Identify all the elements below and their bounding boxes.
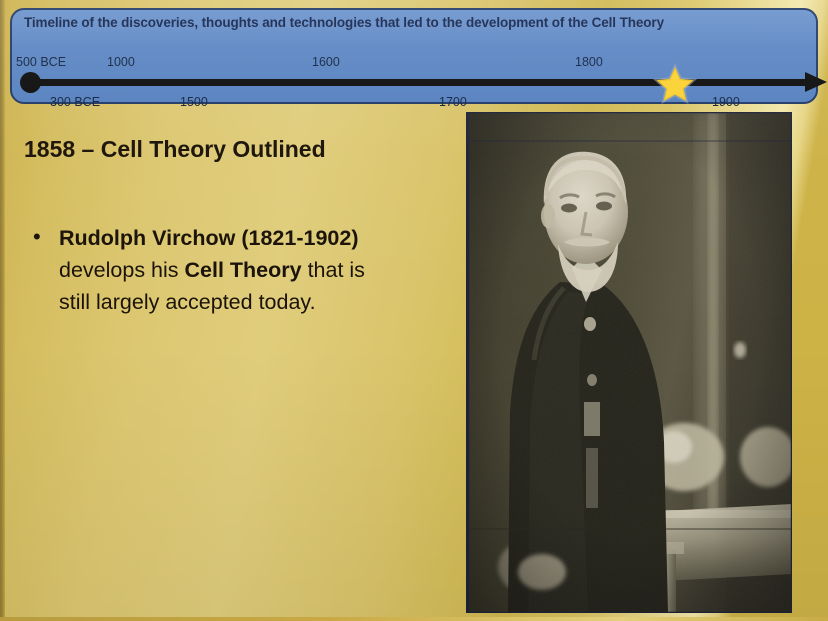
slide-bottom-edge	[0, 617, 828, 621]
timeline-tick-1700: 1700	[439, 95, 467, 109]
rudolph-virchow-portrait	[466, 112, 792, 613]
timeline-tick-300bce: 300 BCE	[50, 95, 100, 109]
star-icon	[653, 62, 697, 104]
bullet-marker: •	[33, 222, 59, 252]
bullet-text-name: Rudolph Virchow (1821-1902)	[59, 226, 359, 250]
bullet-text-mid: develops his	[59, 258, 185, 282]
timeline-tick-1600: 1600	[312, 55, 340, 69]
slide-canvas: Timeline of the discoveries, thoughts an…	[0, 0, 828, 621]
timeline-tick-1800: 1800	[575, 55, 603, 69]
timeline-tick-500bce: 500 BCE	[16, 55, 66, 69]
bullet-text: Rudolph Virchow (1821-1902) develops his…	[59, 222, 369, 318]
list-item: • Rudolph Virchow (1821-1902) develops h…	[33, 222, 393, 318]
timeline-tick-1500: 1500	[180, 95, 208, 109]
slide-left-edge	[0, 0, 5, 621]
page-title: 1858 – Cell Theory Outlined	[24, 136, 326, 163]
portrait-illustration	[468, 112, 792, 613]
timeline-tick-1900: 1900	[712, 95, 740, 109]
timeline-title: Timeline of the discoveries, thoughts an…	[24, 15, 664, 30]
timeline-arrow-head	[805, 72, 827, 92]
timeline-tick-1000: 1000	[107, 55, 135, 69]
bullet-text-term: Cell Theory	[185, 258, 302, 282]
timeline-banner: Timeline of the discoveries, thoughts an…	[10, 8, 818, 104]
